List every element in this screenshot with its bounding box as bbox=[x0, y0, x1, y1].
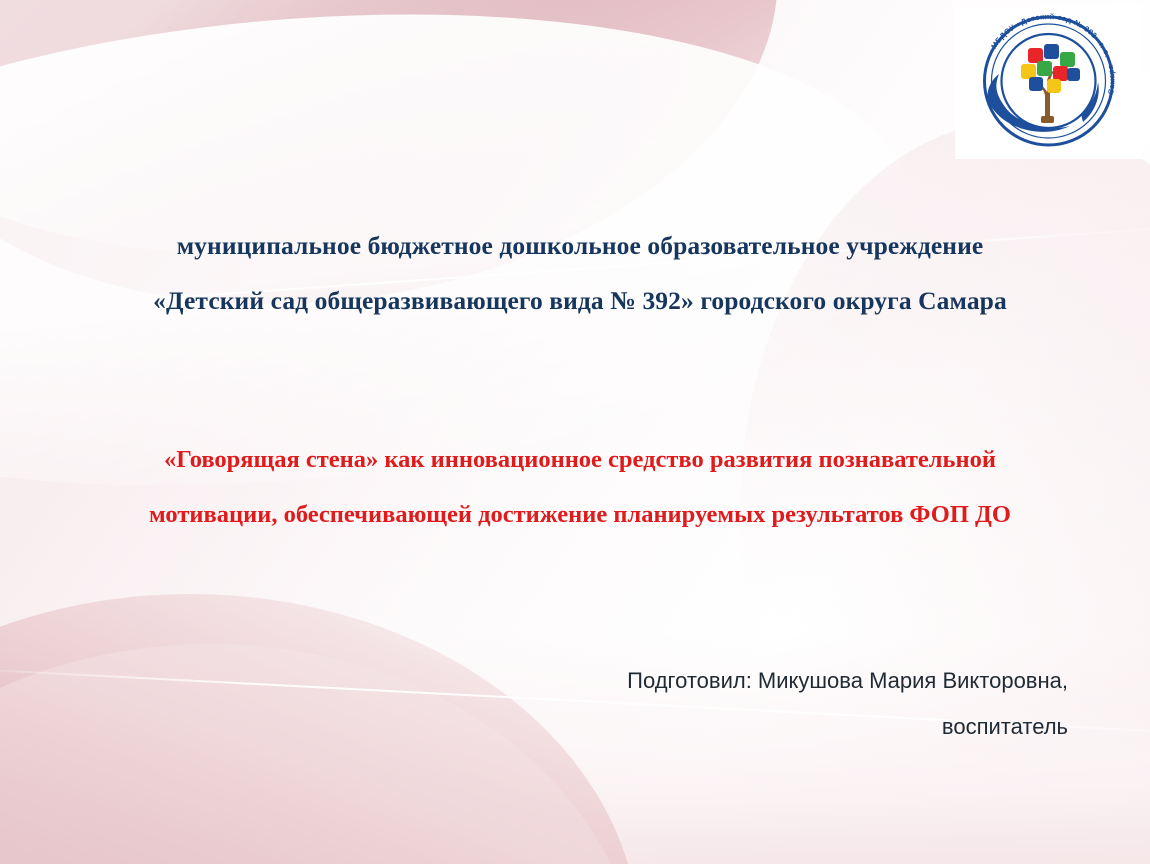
organization-title: муниципальное бюджетное дошкольное образ… bbox=[80, 218, 1080, 328]
presentation-theme-line-2: мотивации, обеспечивающей достижение пла… bbox=[70, 487, 1090, 542]
author-block: Подготовил: Микушова Мария Викторовна, в… bbox=[428, 658, 1068, 750]
organization-title-line-1: муниципальное бюджетное дошкольное образ… bbox=[80, 218, 1080, 273]
presentation-slide: МБДОУ «Детский сад № 392» г. о. Самара м… bbox=[0, 0, 1150, 864]
presentation-theme-line-1: «Говорящая стена» как инновационное сред… bbox=[70, 432, 1090, 487]
organization-logo: МБДОУ «Детский сад № 392» г. о. Самара bbox=[955, 4, 1142, 159]
author-name: Подготовил: Микушова Мария Викторовна, bbox=[428, 658, 1068, 704]
organization-title-line-2: «Детский сад общеразвивающего вида № 392… bbox=[80, 273, 1080, 328]
presentation-theme: «Говорящая стена» как инновационное сред… bbox=[70, 432, 1090, 542]
author-position: воспитатель bbox=[428, 704, 1068, 750]
